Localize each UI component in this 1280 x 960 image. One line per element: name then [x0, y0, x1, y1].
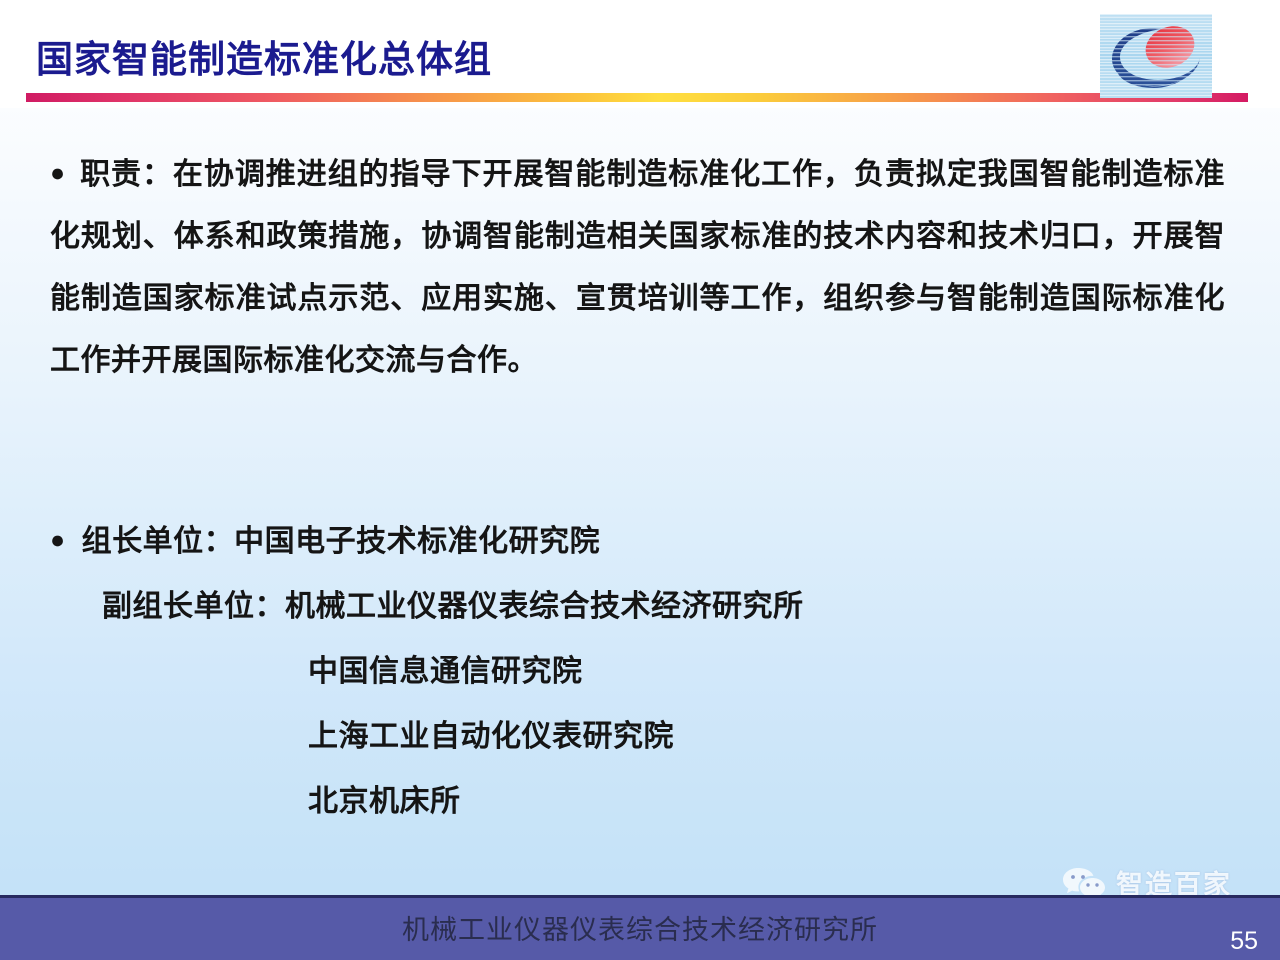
slide: 国家智能制造标准化总体组 [0, 0, 1280, 960]
page-number: 55 [1230, 927, 1258, 956]
deputy-unit-extra-2: 上海工业自动化仪表研究院 [50, 722, 1230, 752]
page-title: 国家智能制造标准化总体组 [36, 41, 492, 78]
organization-logo [1100, 14, 1212, 98]
slide-header: 国家智能制造标准化总体组 [0, 0, 1280, 108]
lead-unit-line: ●组长单位：中国电子技术标准化研究院 [50, 527, 1230, 557]
bullet-glyph: ● [50, 526, 66, 554]
responsibility-text: 职责：在协调推进组的指导下开展智能制造标准化工作，负责拟定我国智能制造标准化规划… [50, 158, 1225, 377]
slide-footer: 机械工业仪器仪表综合技术经济研究所 55 [0, 895, 1280, 960]
deputy-unit-extra-1: 中国信息通信研究院 [50, 657, 1230, 687]
main-content: ●职责：在协调推进组的指导下开展智能制造标准化工作，负责拟定我国智能制造标准化规… [50, 142, 1225, 392]
deputy-unit-line: 副组长单位：机械工业仪器仪表综合技术经济研究所 [50, 592, 1230, 622]
footer-organization: 机械工业仪器仪表综合技术经济研究所 [0, 908, 1280, 947]
responsibility-paragraph: ●职责：在协调推进组的指导下开展智能制造标准化工作，负责拟定我国智能制造标准化规… [50, 142, 1225, 392]
units-block: ●组长单位：中国电子技术标准化研究院 副组长单位：机械工业仪器仪表综合技术经济研… [50, 527, 1230, 817]
title-gradient-rule [26, 93, 1248, 102]
deputy-unit-extra-3: 北京机床所 [50, 787, 1230, 817]
logo-mark-icon [1100, 14, 1212, 98]
lead-unit-text: 组长单位：中国电子技术标准化研究院 [82, 525, 601, 558]
bullet-glyph: ● [50, 159, 66, 187]
